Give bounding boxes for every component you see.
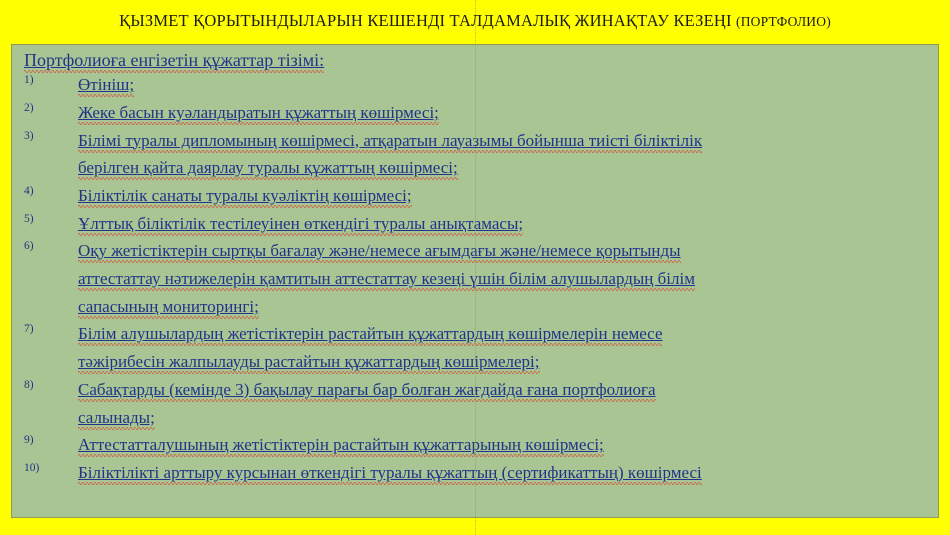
list-item-line: Өтініш; bbox=[78, 75, 134, 97]
list-item-number: 9) bbox=[18, 431, 60, 449]
slide-title-bar: ҚЫЗМЕТ ҚОРЫТЫНДЫЛАРЫН КЕШЕНДІ ТАЛДАМАЛЫҚ… bbox=[0, 0, 950, 41]
list-item-line: сапасының мониторингі; bbox=[78, 297, 259, 319]
list-item-body: Білім алушылардың жетістіктерін растайты… bbox=[60, 320, 932, 375]
list-intro-text: Портфолиоға енгізетін құжаттар тізімі: bbox=[24, 50, 324, 73]
list-item-line: Аттестатталушының жетістіктерін растайты… bbox=[78, 435, 604, 457]
list-item: 9) Аттестатталушының жетістіктерін раста… bbox=[18, 431, 932, 459]
list-item-line: Білімі туралы дипломының көшірмесі, атқа… bbox=[78, 131, 702, 153]
list-item-body: Жеке басын куәландыратын құжаттың көшірм… bbox=[60, 99, 932, 127]
list-item-line: Оқу жетістіктерін сыртқы бағалау және/не… bbox=[78, 241, 681, 263]
document-list: 1) Өтініш; 2) Жеке басын куәландыратын қ… bbox=[18, 71, 932, 487]
list-item-number: 7) bbox=[18, 320, 60, 338]
slide: ҚЫЗМЕТ ҚОРЫТЫНДЫЛАРЫН КЕШЕНДІ ТАЛДАМАЛЫҚ… bbox=[0, 0, 950, 535]
list-item: 1) Өтініш; bbox=[18, 71, 932, 99]
list-item-line: Біліктілікті арттыру курсынан өткендігі … bbox=[78, 463, 702, 485]
list-item-number: 5) bbox=[18, 210, 60, 228]
list-item-number: 8) bbox=[18, 376, 60, 394]
list-item-number: 1) bbox=[18, 71, 60, 89]
list-item: 6) Оқу жетістіктерін сыртқы бағалау және… bbox=[18, 237, 932, 320]
list-item: 2) Жеке басын куәландыратын құжаттың көш… bbox=[18, 99, 932, 127]
list-item-line: берілген қайта даярлау туралы құжаттың к… bbox=[78, 158, 458, 180]
list-item-line: Ұлттық біліктілік тестілеуінен өткендігі… bbox=[78, 214, 523, 236]
list-item-body: Аттестатталушының жетістіктерін растайты… bbox=[60, 431, 932, 459]
slide-title: ҚЫЗМЕТ ҚОРЫТЫНДЫЛАРЫН КЕШЕНДІ ТАЛДАМАЛЫҚ… bbox=[119, 11, 831, 31]
list-item: 10) Біліктілікті арттыру курсынан өткенд… bbox=[18, 459, 932, 487]
list-item-number: 2) bbox=[18, 99, 60, 117]
list-item: 7) Білім алушылардың жетістіктерін раста… bbox=[18, 320, 932, 375]
list-item-line: тәжірибесін жалпылауды растайтын құжатта… bbox=[78, 352, 540, 374]
list-item-line: Білім алушылардың жетістіктерін растайты… bbox=[78, 324, 662, 346]
list-item-body: Біліктілік санаты туралы куәліктің көшір… bbox=[60, 182, 932, 210]
list-item-line: Сабақтарды (кемінде 3) бақылау парағы ба… bbox=[78, 380, 656, 402]
list-item: 4) Біліктілік санаты туралы куәліктің кө… bbox=[18, 182, 932, 210]
list-item-number: 6) bbox=[18, 237, 60, 255]
list-item-body: Сабақтарды (кемінде 3) бақылау парағы ба… bbox=[60, 376, 932, 431]
list-item: 3) Білімі туралы дипломының көшірмесі, а… bbox=[18, 127, 932, 182]
list-item-number: 3) bbox=[18, 127, 60, 145]
slide-title-main: ҚЫЗМЕТ ҚОРЫТЫНДЫЛАРЫН КЕШЕНДІ ТАЛДАМАЛЫҚ… bbox=[119, 11, 736, 30]
list-item-body: Ұлттық біліктілік тестілеуінен өткендігі… bbox=[60, 210, 932, 238]
list-item-line: аттестаттау нәтижелерін қамтитын аттеста… bbox=[78, 269, 695, 291]
list-item-number: 4) bbox=[18, 182, 60, 200]
list-item-body: Өтініш; bbox=[60, 71, 932, 99]
content-box: Портфолиоға енгізетін құжаттар тізімі: 1… bbox=[11, 44, 939, 518]
list-item-line: Жеке басын куәландыратын құжаттың көшірм… bbox=[78, 103, 439, 125]
list-item: 8) Сабақтарды (кемінде 3) бақылау парағы… bbox=[18, 376, 932, 431]
list-item-body: Білімі туралы дипломының көшірмесі, атқа… bbox=[60, 127, 932, 182]
list-item-line: салынады; bbox=[78, 408, 155, 430]
list-item-body: Біліктілікті арттыру курсынан өткендігі … bbox=[60, 459, 932, 487]
list-item: 5) Ұлттық біліктілік тестілеуінен өткенд… bbox=[18, 210, 932, 238]
slide-title-parenthetical: (ПОРТФОЛИО) bbox=[736, 14, 831, 29]
list-item-body: Оқу жетістіктерін сыртқы бағалау және/не… bbox=[60, 237, 932, 320]
list-item-line: Біліктілік санаты туралы куәліктің көшір… bbox=[78, 186, 412, 208]
list-intro: Портфолиоға енгізетін құжаттар тізімі: bbox=[18, 50, 932, 70]
list-item-number: 10) bbox=[18, 459, 60, 477]
